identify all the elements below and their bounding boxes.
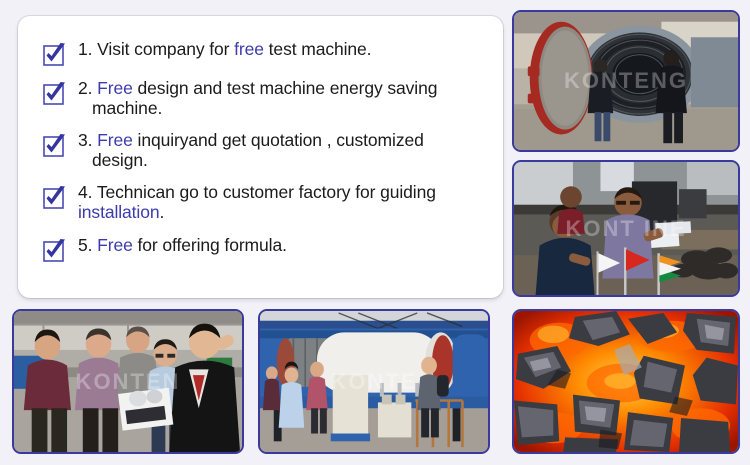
list-item-text: 5. Free for offering formula. xyxy=(78,236,287,256)
checked-checkbox-icon xyxy=(43,186,66,209)
list-item-text: 4. Technican go to customer factory for … xyxy=(78,183,436,222)
list-item-text: 3. Free inquiryand get quotation , custo… xyxy=(78,131,424,170)
list-item: 5. Free for offering formula. xyxy=(43,236,489,262)
list-item: 3. Free inquiryand get quotation , custo… xyxy=(43,131,489,170)
office-contract-signing-photo: KONT INE xyxy=(512,160,740,297)
list-item: 4. Technican go to customer factory for … xyxy=(43,183,489,222)
list-item: 1. Visit company for free test machine. xyxy=(43,40,489,66)
checked-checkbox-icon xyxy=(43,82,66,105)
promo-banner: 1. Visit company for free test machine. … xyxy=(0,0,750,465)
list-item: 2. Free design and test machine energy s… xyxy=(43,79,489,118)
factory-visitors-photo: KONTEN xyxy=(12,309,244,454)
list-item-text: 1. Visit company for free test machine. xyxy=(78,40,371,60)
burning-charcoal-photo xyxy=(512,309,740,454)
service-list-card: 1. Visit company for free test machine. … xyxy=(18,16,503,298)
checked-checkbox-icon xyxy=(43,134,66,157)
checked-checkbox-icon xyxy=(43,43,66,66)
service-list: 1. Visit company for free test machine. … xyxy=(43,40,489,262)
list-item-text: 2. Free design and test machine energy s… xyxy=(78,79,437,118)
autoclave-machine-photo: KONTENG xyxy=(512,10,740,152)
rotary-dryer-photo: KONTE xyxy=(258,309,490,454)
checked-checkbox-icon xyxy=(43,239,66,262)
